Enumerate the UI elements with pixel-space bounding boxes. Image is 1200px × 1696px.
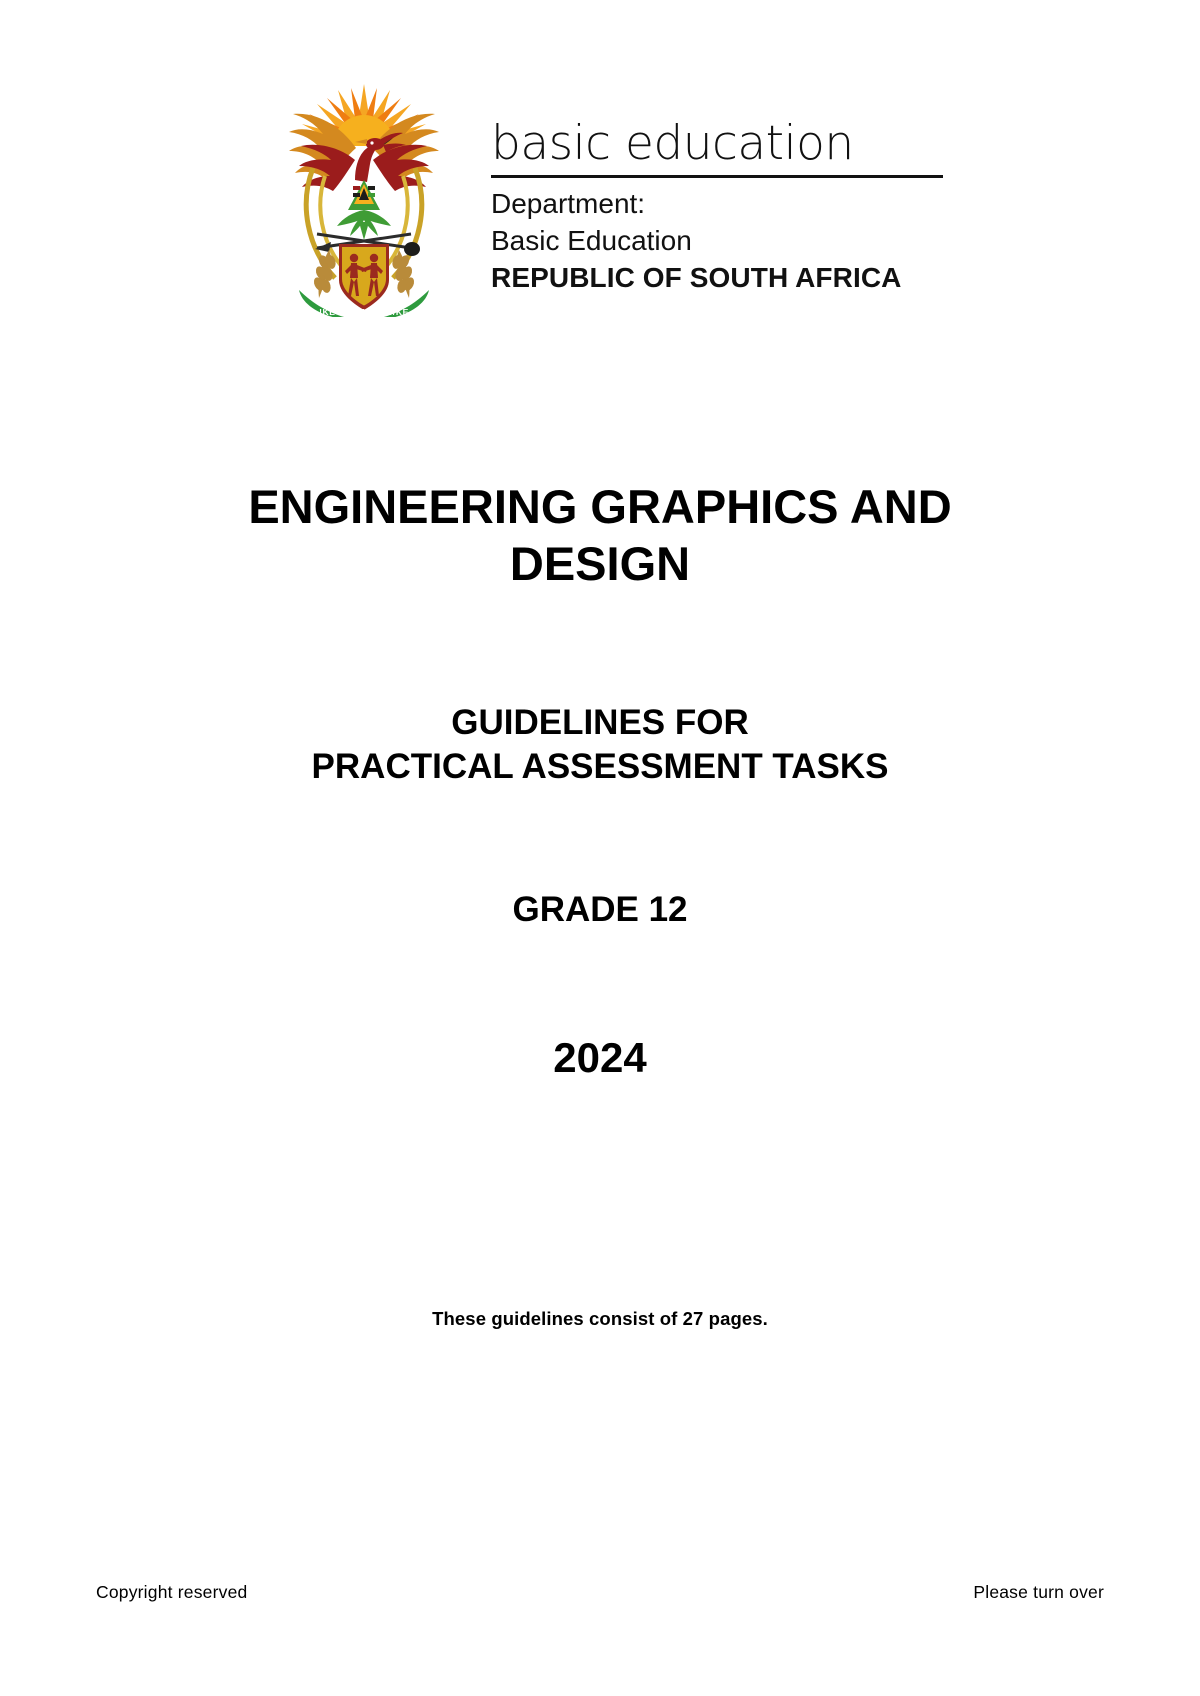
page-count-note: These guidelines consist of 27 pages. — [0, 1308, 1200, 1330]
department-wordmark-block: basic education Department: Basic Educat… — [491, 72, 943, 297]
page-subtitle: GUIDELINES FOR PRACTICAL ASSESSMENT TASK… — [0, 593, 1200, 791]
department-name: Basic Education — [491, 223, 943, 260]
document-page: !KE E: /XARRA //KE basic education Depar… — [0, 0, 1200, 1696]
green-leaves — [337, 210, 391, 240]
protea-flower — [348, 180, 380, 210]
page-subtitle-line-2: PRACTICAL ASSESSMENT TASKS — [312, 747, 889, 786]
year-label: 2024 — [0, 930, 1200, 1082]
page-title-line-1: ENGINEERING GRAPHICS AND — [248, 480, 951, 533]
department-label: Department: — [491, 186, 943, 223]
country-name: REPUBLIC OF SOUTH AFRICA — [491, 260, 943, 297]
page-title-line-2: DESIGN — [510, 537, 690, 590]
footer-copyright: Copyright reserved — [96, 1582, 247, 1603]
emblem-motto-text: !KE E: /XARRA //KE — [319, 307, 409, 317]
page-title: ENGINEERING GRAPHICS AND DESIGN — [190, 478, 1010, 593]
letterhead: !KE E: /XARRA //KE basic education Depar… — [255, 72, 943, 317]
page-footer: Copyright reserved Please turn over — [96, 1582, 1104, 1603]
page-subtitle-line-1: GUIDELINES FOR — [451, 703, 749, 742]
wordmark-divider — [491, 175, 943, 178]
basic-education-wordmark: basic education — [491, 120, 943, 168]
shield — [339, 244, 389, 310]
title-block: ENGINEERING GRAPHICS AND DESIGN GUIDELIN… — [0, 478, 1200, 1082]
footer-turn-over: Please turn over — [973, 1582, 1104, 1603]
south-african-coat-of-arms-emblem: !KE E: /XARRA //KE — [255, 72, 473, 317]
grade-label: GRADE 12 — [0, 790, 1200, 930]
